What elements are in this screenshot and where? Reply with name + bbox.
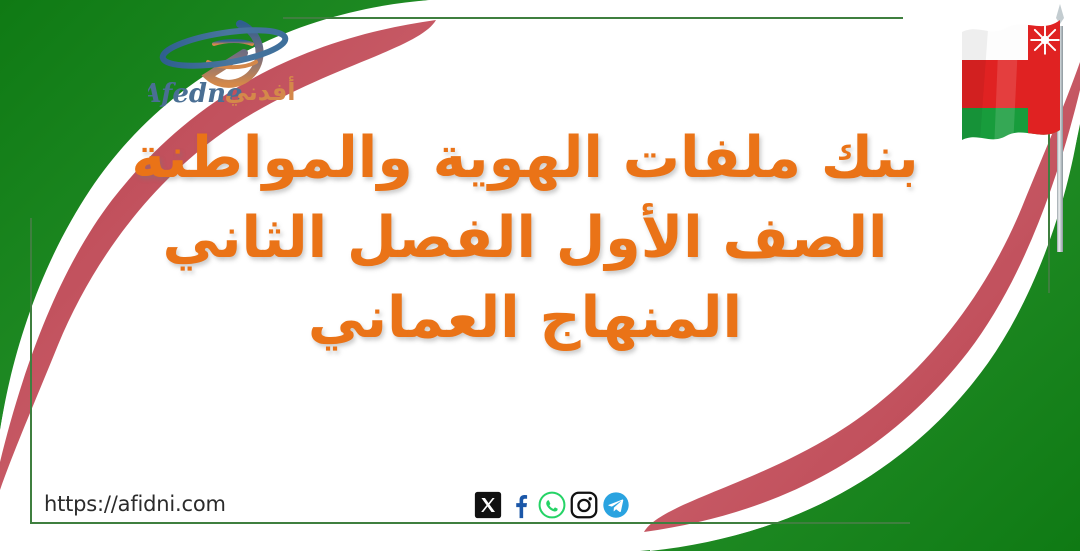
- facebook-icon[interactable]: [506, 491, 534, 519]
- logo-arabic-wordmark: أفدني: [224, 76, 295, 106]
- x-twitter-icon[interactable]: [474, 491, 502, 519]
- site-url[interactable]: https://afidni.com: [44, 492, 226, 516]
- frame-line-bottom: [30, 522, 910, 524]
- title-line-1: بنك ملفات الهوية والمواطنة: [60, 118, 990, 198]
- poster-title: بنك ملفات الهوية والمواطنة الصف الأول ال…: [60, 118, 990, 358]
- khanjar-and-swords-emblem: [1031, 26, 1059, 54]
- orbit-globe-icon: [160, 23, 287, 83]
- afedni-logo: Afedne أفدني: [148, 14, 303, 110]
- poster-canvas: Afedne أفدني: [0, 0, 1080, 551]
- title-line-3: المنهاج العماني: [60, 278, 990, 358]
- title-line-2: الصف الأول الفصل الثاني: [60, 198, 990, 278]
- frame-line-left: [30, 218, 32, 524]
- telegram-icon[interactable]: [602, 491, 630, 519]
- frame-line-top: [283, 17, 903, 19]
- social-links-bar: [474, 491, 630, 519]
- whatsapp-icon[interactable]: [538, 491, 566, 519]
- instagram-icon[interactable]: [570, 491, 598, 519]
